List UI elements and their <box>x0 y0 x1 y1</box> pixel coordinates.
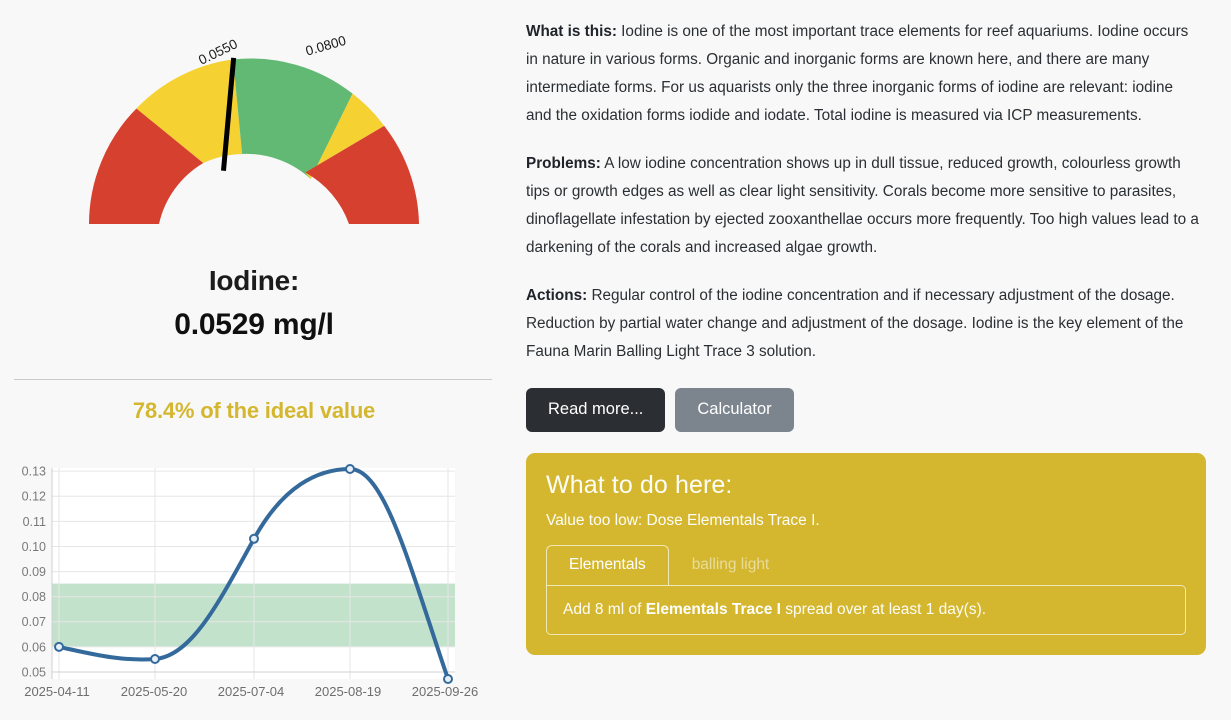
parameter-value: 0.0529 mg/l <box>0 305 508 346</box>
what-to-do-card: What to do here: Value too low: Dose Ele… <box>526 453 1206 655</box>
chart-ytick: 0.07 <box>22 615 46 629</box>
chart-ytick: 0.06 <box>22 640 46 654</box>
chart-ytick: 0.10 <box>22 540 46 554</box>
problems-text: A low iodine concentration shows up in d… <box>526 155 1199 256</box>
problems-label: Problems: <box>526 155 601 172</box>
what-to-do-subtitle: Value too low: Dose Elementals Trace I. <box>546 510 1186 532</box>
chart-ytick: 0.05 <box>22 665 46 679</box>
history-chart-svg: 0.13 0.12 0.11 0.10 0.09 0.08 0.07 0.06 … <box>0 448 508 710</box>
dose-suffix: spread over at least 1 day(s). <box>781 601 986 618</box>
info-panel: What is this: Iodine is one of the most … <box>508 0 1231 720</box>
chart-point[interactable] <box>151 655 159 663</box>
chart-xtick: 2025-07-04 <box>218 684 285 699</box>
action-button-row: Read more... Calculator <box>526 388 1206 432</box>
chart-ytick: 0.11 <box>23 515 46 529</box>
what-is-this-paragraph: What is this: Iodine is one of the most … <box>526 18 1202 130</box>
chart-point[interactable] <box>55 643 63 651</box>
calculator-button[interactable]: Calculator <box>675 388 793 432</box>
what-is-this-text: Iodine is one of the most important trac… <box>526 23 1188 124</box>
gauge-arcs <box>89 58 419 224</box>
chart-ytick: 0.13 <box>22 465 46 479</box>
actions-paragraph: Actions: Regular control of the iodine c… <box>526 282 1202 366</box>
chart-xtick: 2025-08-19 <box>315 684 382 699</box>
chart-xtick: 2025-09-26 <box>412 684 479 699</box>
gauge-chart: 0.0550 0.0800 <box>0 6 508 236</box>
dosing-tabs: Elementals balling light <box>546 545 1186 586</box>
tab-balling-light[interactable]: balling light <box>669 545 793 586</box>
dose-prefix: Add 8 ml of <box>563 601 646 618</box>
actions-label: Actions: <box>526 287 587 304</box>
actions-text: Regular control of the iodine concentrat… <box>526 287 1183 360</box>
measurement-readout: Iodine: 0.0529 mg/l <box>0 262 508 345</box>
problems-paragraph: Problems: A low iodine concentration sho… <box>526 150 1202 262</box>
chart-ytick: 0.08 <box>22 590 46 604</box>
dose-product: Elementals Trace I <box>646 601 781 618</box>
gauge-label-high: 0.0800 <box>304 33 348 59</box>
chart-point[interactable] <box>250 535 258 543</box>
what-to-do-title: What to do here: <box>546 469 1186 502</box>
history-line-chart: 0.13 0.12 0.11 0.10 0.09 0.08 0.07 0.06 … <box>0 448 508 710</box>
ideal-value-percent: 78.4% of the ideal value <box>0 398 508 424</box>
what-is-this-label: What is this: <box>526 23 617 40</box>
chart-xtick: 2025-05-20 <box>121 684 188 699</box>
dosing-instruction-panel: Add 8 ml of Elementals Trace I spread ov… <box>546 585 1186 635</box>
chart-xtick: 2025-04-11 <box>24 684 90 699</box>
gauge-svg: 0.0550 0.0800 <box>24 6 484 232</box>
chart-point[interactable] <box>346 465 354 473</box>
chart-x-tick-labels: 2025-04-11 2025-05-20 2025-07-04 2025-08… <box>24 684 478 699</box>
section-divider <box>14 379 492 380</box>
chart-ytick: 0.12 <box>22 490 46 504</box>
page-root: 0.0550 0.0800 Iodine: 0.0529 mg/l 78.4% … <box>0 0 1231 720</box>
chart-ytick: 0.09 <box>22 565 46 579</box>
measurement-panel: 0.0550 0.0800 Iodine: 0.0529 mg/l 78.4% … <box>0 0 508 720</box>
chart-y-tick-labels: 0.13 0.12 0.11 0.10 0.09 0.08 0.07 0.06 … <box>22 465 46 680</box>
tab-elementals[interactable]: Elementals <box>546 545 669 586</box>
read-more-button[interactable]: Read more... <box>526 388 665 432</box>
chart-point[interactable] <box>444 675 452 683</box>
parameter-name: Iodine: <box>0 262 508 300</box>
